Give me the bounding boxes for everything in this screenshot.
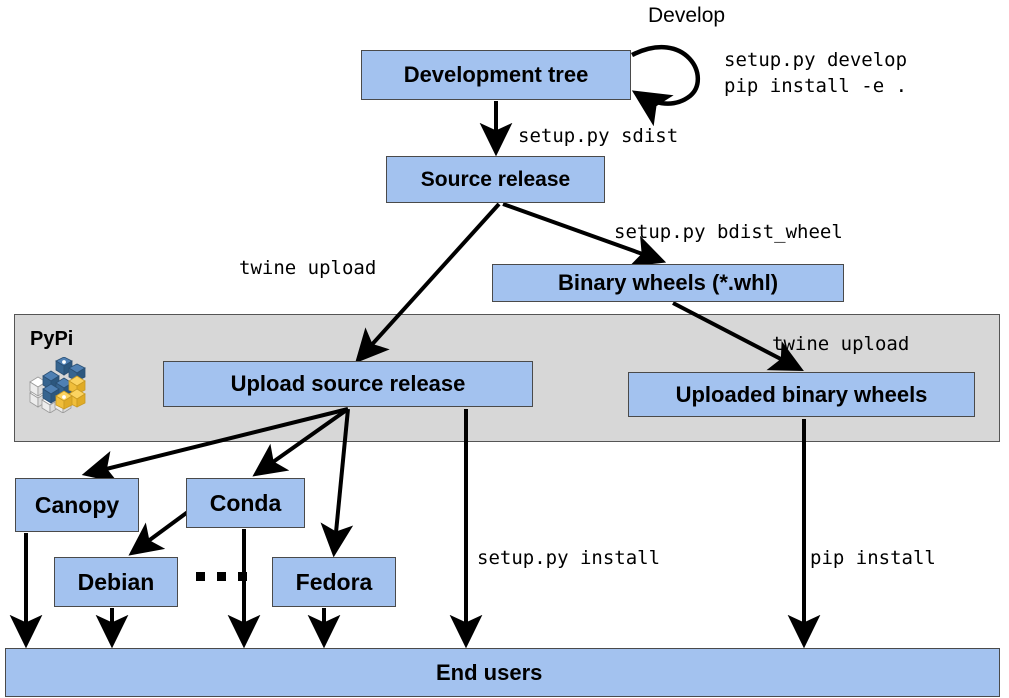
diagram-canvas: PyPi [0, 0, 1009, 698]
edge-label-twine-upload-src: twine upload [239, 256, 376, 282]
develop-loop-label: Develop [648, 4, 725, 28]
pypi-cubes-svg [26, 357, 88, 413]
node-fedora[interactable]: Fedora [272, 557, 396, 607]
edge-label-twine-upload-wheel: twine upload [772, 332, 909, 358]
ellipsis-dot [238, 572, 247, 581]
node-endusers[interactable]: End users [5, 648, 1000, 697]
edge-label-setuppy-install: setup.py install [477, 546, 660, 572]
node-uploadwheels[interactable]: Uploaded binary wheels [628, 372, 975, 417]
node-devtree[interactable]: Development tree [361, 50, 631, 100]
ellipsis-dots [196, 572, 247, 581]
node-wheels[interactable]: Binary wheels (*.whl) [492, 264, 844, 302]
edge-label-pip-install: pip install [810, 546, 936, 572]
edge-label-sdist: setup.py sdist [518, 124, 678, 150]
ellipsis-dot [196, 572, 205, 581]
node-uploadsrc[interactable]: Upload source release [163, 361, 533, 407]
pypi-cubes-logo [26, 357, 88, 418]
node-debian[interactable]: Debian [54, 557, 178, 607]
edge-label-develop-cmd: setup.py develop pip install -e . [724, 48, 907, 99]
edge-label-bdist-wheel: setup.py bdist_wheel [614, 220, 843, 246]
node-srcrel[interactable]: Source release [386, 156, 605, 203]
pypi-band-title: PyPi [30, 328, 73, 351]
arrow-develop-loop [632, 47, 698, 103]
node-canopy[interactable]: Canopy [15, 478, 139, 532]
node-conda[interactable]: Conda [186, 478, 305, 528]
ellipsis-dot [217, 572, 226, 581]
